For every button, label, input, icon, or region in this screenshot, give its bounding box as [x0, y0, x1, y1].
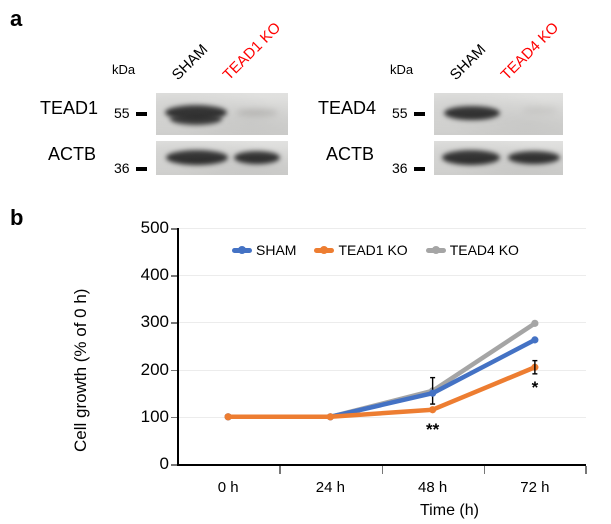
legend-label: TEAD4 KO: [450, 243, 519, 257]
legend-swatch-icon: [314, 248, 334, 253]
legend-item-sham[interactable]: SHAM: [232, 243, 296, 257]
significance-48h: **: [403, 421, 463, 438]
legend-label: SHAM: [256, 243, 296, 257]
legend-label: TEAD1 KO: [338, 243, 407, 257]
x-axis-title: Time (h): [420, 503, 479, 519]
series-tead1-ko: [225, 361, 539, 421]
data-point: [225, 413, 232, 420]
chart-legend: SHAMTEAD1 KOTEAD4 KO: [232, 243, 519, 257]
data-point: [327, 413, 334, 420]
chart-series-layer: [0, 0, 611, 524]
data-point: [429, 406, 436, 413]
significance-72h: *: [505, 379, 565, 396]
legend-swatch-icon: [232, 248, 252, 253]
data-point: [531, 320, 538, 327]
legend-item-tead4-ko[interactable]: TEAD4 KO: [426, 243, 519, 257]
legend-item-tead1-ko[interactable]: TEAD1 KO: [314, 243, 407, 257]
data-point: [429, 390, 436, 397]
legend-swatch-icon: [426, 248, 446, 253]
chart-plot-area: 01002003004005000 h24 h48 h72 h***: [0, 0, 611, 524]
series-sham: [225, 336, 539, 420]
data-point: [531, 336, 538, 343]
